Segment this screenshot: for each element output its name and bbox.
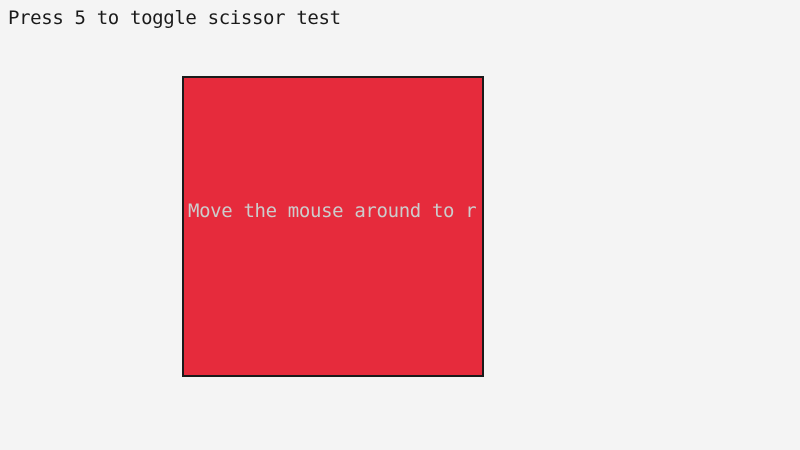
scissor-clip-viewport: Move the mouse around to r [184, 78, 482, 375]
demo-canvas: Press 5 to toggle scissor test Move the … [0, 0, 800, 450]
hud-instruction-text: Press 5 to toggle scissor test [8, 7, 341, 29]
scissor-region-rect[interactable]: Move the mouse around to r [182, 76, 484, 377]
clipped-message-text: Move the mouse around to r [188, 200, 476, 222]
